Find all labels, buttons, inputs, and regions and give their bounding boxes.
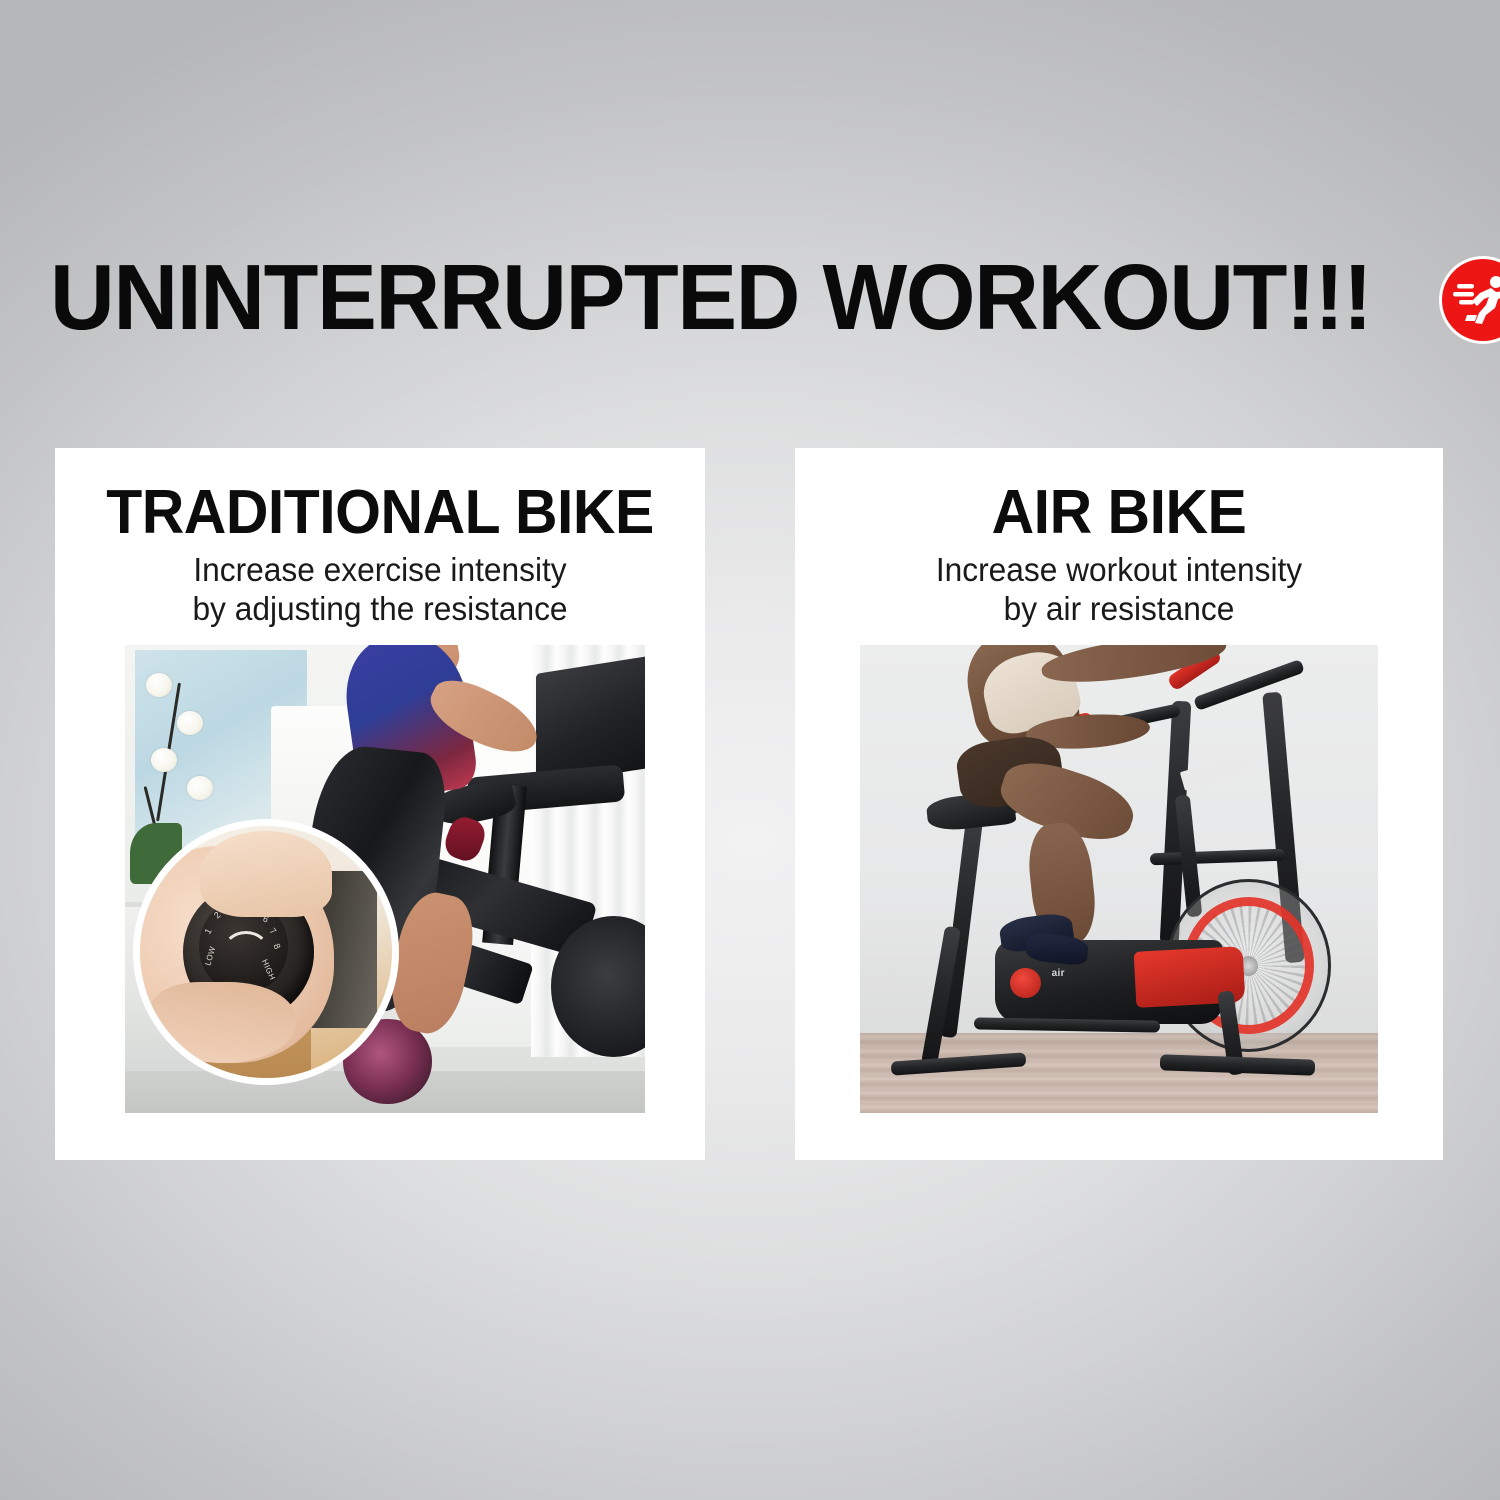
- card-right-title: AIR BIKE: [828, 482, 1409, 544]
- card-left-subtitle-line1: Increase exercise intensity: [85, 551, 674, 590]
- resistance-knob-inset: 1 2 3 4 5 6 7 8 LOW HIGH: [133, 819, 399, 1085]
- poster-canvas: UNINTERRUPTED WORKOUT!!! TRADITIONAL BIK…: [0, 0, 1500, 1500]
- dial-label-low: LOW: [205, 946, 218, 967]
- photo-air-bike: air: [860, 645, 1378, 1113]
- dial-number-1: 1: [203, 928, 213, 937]
- card-left-title: TRADITIONAL BIKE: [88, 482, 671, 544]
- card-right-subtitle-line1: Increase workout intensity: [825, 551, 1413, 590]
- orchid-flower: [177, 711, 203, 735]
- runner-glyph: [1451, 268, 1500, 332]
- dial-number-8: 8: [272, 942, 282, 950]
- running-person-icon: [1439, 256, 1500, 344]
- card-left-header: TRADITIONAL BIKE Increase exercise inten…: [55, 482, 705, 628]
- photo-traditional-bike: PELOTON 1 2 3 4 5 6: [125, 645, 645, 1113]
- inset-fingers-top: [200, 831, 331, 917]
- headline-row: UNINTERRUPTED WORKOUT!!!: [50, 243, 1470, 353]
- inset-fingers-bottom: [150, 982, 296, 1063]
- dial-number-7: 7: [267, 927, 277, 937]
- card-left-subtitle: Increase exercise intensity by adjusting…: [85, 551, 674, 628]
- orchid-flower: [151, 748, 177, 772]
- card-right-header: AIR BIKE Increase workout intensity by a…: [795, 482, 1443, 628]
- card-air-bike: AIR BIKE Increase workout intensity by a…: [795, 448, 1443, 1160]
- card-right-subtitle-line2: by air resistance: [825, 590, 1413, 629]
- airbike-brand-label: air: [1052, 968, 1065, 979]
- card-left-subtitle-line2: by adjusting the resistance: [85, 590, 674, 629]
- card-right-subtitle: Increase workout intensity by air resist…: [825, 551, 1413, 628]
- orchid-flower: [146, 673, 172, 697]
- page-title: UNINTERRUPTED WORKOUT!!!: [50, 253, 1371, 342]
- card-traditional-bike: TRADITIONAL BIKE Increase exercise inten…: [55, 448, 705, 1160]
